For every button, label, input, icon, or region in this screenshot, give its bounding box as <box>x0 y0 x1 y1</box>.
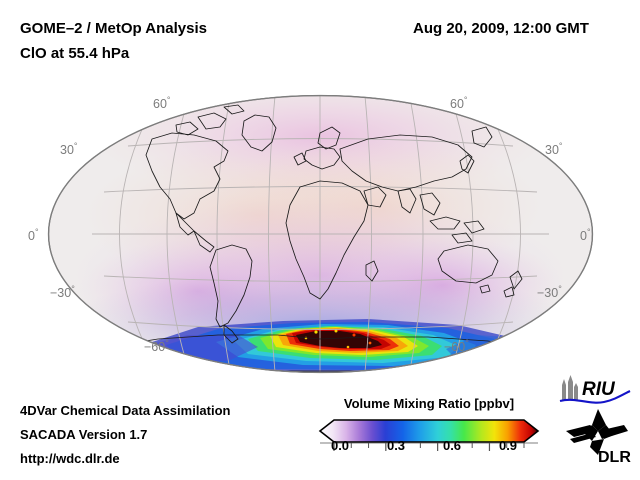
timestamp: Aug 20, 2009, 12:00 GMT <box>413 20 589 37</box>
colorbar-tick-2: 0.6 <box>443 438 461 453</box>
colorbar-tick-3: 0.9 <box>499 438 517 453</box>
riu-logo: RIU <box>556 374 632 404</box>
footer-line-version: SACADA Version 1.7 <box>20 427 147 442</box>
dlr-logo: DLR <box>562 409 634 465</box>
colorbar-tick-1: 0.3 <box>387 438 405 453</box>
colorbar: Volume Mixing Ratio [ppbv] 0.0 0.3 0.6 0… <box>318 396 540 466</box>
dlr-logo-text: DLR <box>598 449 631 465</box>
lat-label-right-m30: −30° <box>537 284 562 300</box>
lat-label-left-m30: −30° <box>50 284 75 300</box>
page-title: GOME–2 / MetOp Analysis <box>20 20 207 37</box>
colorbar-title: Volume Mixing Ratio [ppbv] <box>318 396 540 411</box>
lat-label-left-60: 60° <box>153 95 171 111</box>
footer-line-url[interactable]: http://wdc.dlr.de <box>20 451 120 466</box>
map-panel: 60° 30° 0° −30° −60° 60° 30° 0° −30° −60… <box>40 86 600 381</box>
lat-label-right-0: 0° <box>580 227 591 243</box>
lat-label-right-m60: −60° <box>444 338 469 354</box>
lat-label-left-0: 0° <box>28 227 39 243</box>
lat-label-right-30: 30° <box>545 141 563 157</box>
lat-label-right-60: 60° <box>450 95 468 111</box>
footer-line-method: 4DVar Chemical Data Assimilation <box>20 403 231 418</box>
riu-spires-icon <box>562 375 578 400</box>
page-subtitle: ClO at 55.4 hPa <box>20 45 129 62</box>
coastlines-and-graticule <box>48 95 593 373</box>
lat-label-left-m60: −60° <box>144 338 169 354</box>
lat-label-left-30: 30° <box>60 141 78 157</box>
colorbar-tick-0: 0.0 <box>331 438 349 453</box>
riu-logo-text: RIU <box>582 379 616 400</box>
globe <box>48 95 593 373</box>
